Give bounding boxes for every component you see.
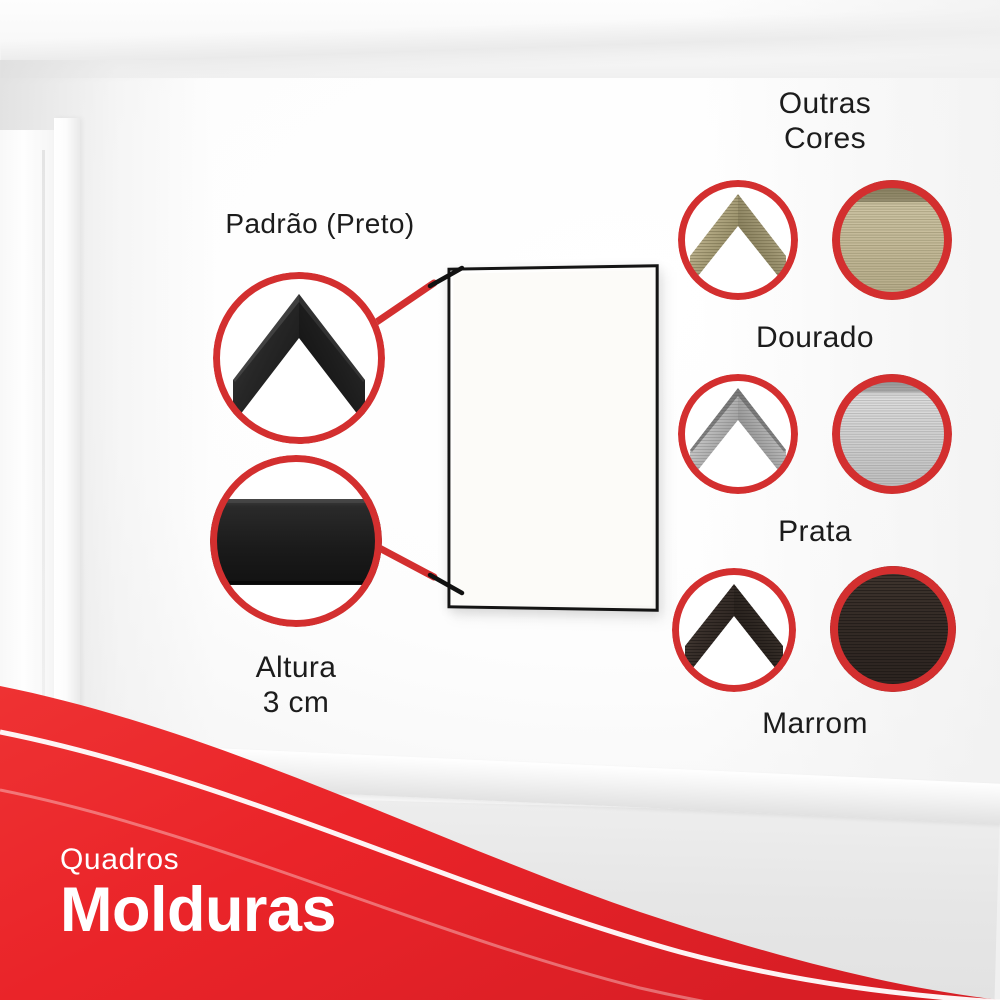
swatch-corner-dourado-lens <box>678 180 798 300</box>
frame-height-profile-icon <box>210 455 382 627</box>
gold-frame-corner-icon <box>678 180 798 300</box>
label-prata: Prata <box>695 514 935 549</box>
callout-altura <box>210 455 382 627</box>
heading-outras-cores: Outras Cores <box>700 86 950 157</box>
callout-padrao-lens <box>213 272 385 444</box>
gold-texture-swatch-icon <box>832 180 952 300</box>
callout-padrao-preto <box>213 272 385 444</box>
banner-line-molduras: Molduras <box>60 877 336 944</box>
silver-texture-swatch-icon <box>832 374 952 494</box>
black-frame-corner-icon <box>213 272 385 444</box>
callout-altura-lens <box>210 455 382 627</box>
swatch-corner-dourado <box>678 180 798 300</box>
swatch-corner-prata-lens <box>678 374 798 494</box>
swatch-corner-prata <box>678 374 798 494</box>
swatch-fill-dourado <box>832 180 952 300</box>
swatch-fill-prata-lens <box>832 374 952 494</box>
bottom-banner <box>0 640 1000 1000</box>
infographic-canvas: Padrão (Preto) <box>0 0 1000 1000</box>
label-padrao: Padrão (Preto) <box>150 207 490 240</box>
swatch-fill-dourado-lens <box>832 180 952 300</box>
label-dourado: Dourado <box>695 320 935 355</box>
banner-text-block: Quadros Molduras <box>60 845 336 944</box>
banner-line-quadros: Quadros <box>60 845 336 875</box>
silver-frame-corner-icon <box>678 374 798 494</box>
swatch-fill-prata <box>832 374 952 494</box>
